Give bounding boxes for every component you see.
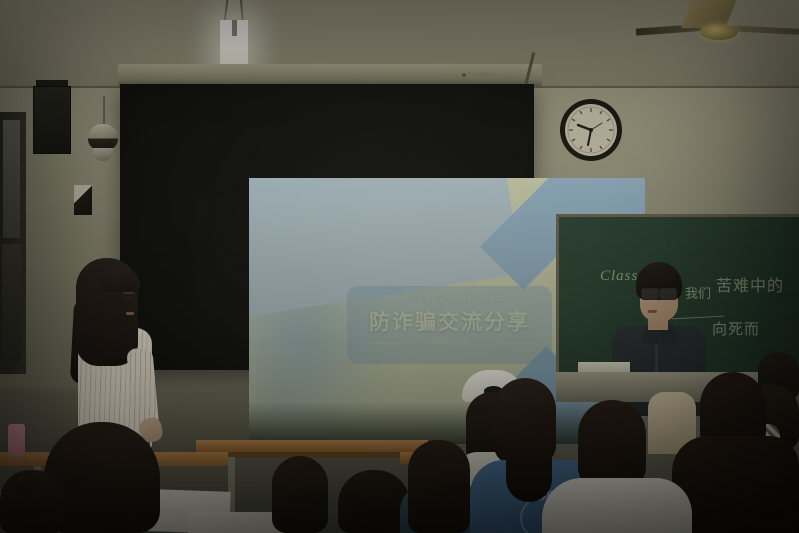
slide-title: 防诈骗交流分享 (347, 306, 552, 336)
slide-date: 2019.4.15 (347, 339, 552, 346)
glasses-icon-left-lens (641, 288, 659, 300)
slide-subtitle: 文化产业学院安全教育系列活动之 (347, 292, 552, 302)
door-lower-panel (2, 244, 21, 364)
housing-brand-label: ThreeStart (468, 72, 496, 78)
presenter-eye (125, 297, 132, 300)
white-shirt (542, 478, 692, 533)
wall-clock-icon (556, 95, 626, 165)
student-mid-left-head (272, 456, 328, 533)
wall-speaker-icon (33, 86, 71, 154)
light-tube-gap (232, 20, 237, 36)
presenter-fringe (100, 268, 140, 292)
classroom-photo: ThreeStart 文化产业学院安全教育系列活动之 防诈骗交流分享 2019.… (0, 0, 799, 533)
student-mid-right-head (408, 440, 470, 533)
dome-camera-icon (88, 124, 118, 150)
paper-sheet-c (188, 512, 284, 533)
presenter-mouth (126, 312, 134, 315)
white-shirt-student-head (578, 400, 646, 488)
glasses-icon-bridge (656, 292, 660, 294)
camera-stem (103, 96, 105, 126)
pink-cup (8, 424, 25, 456)
denim-student-ponytail (506, 440, 552, 502)
glasses-icon-right-lens (659, 288, 677, 300)
projection-screen: 文化产业学院安全教育系列活动之 防诈骗交流分享 2019.4.15 (120, 84, 534, 370)
housing-brand-dot (462, 73, 466, 77)
presenter-eyebrow (123, 292, 134, 294)
speaker-cone (74, 185, 92, 215)
door-glass-pane (3, 120, 20, 238)
ceiling-fan-hub (700, 24, 738, 40)
seated-man-mouth (648, 310, 657, 313)
foreground-student-far-left-head (0, 470, 64, 533)
